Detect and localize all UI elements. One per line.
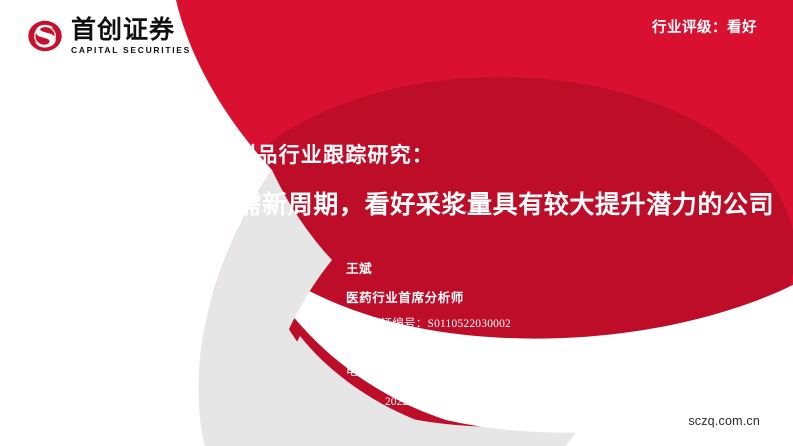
author-phone-line: 电话：010-81152644 — [346, 363, 511, 379]
author-email-line: Email：wangbin3@sczq.com.cn — [346, 339, 511, 355]
author-role: 医药行业首席分析师 — [346, 287, 511, 306]
logo-wordmark: 首创证券 CAPITAL SECURITIES — [71, 17, 191, 55]
report-title-subtitle: 供需新周期，看好采浆量具有较大提升潜力的公司 — [211, 185, 774, 221]
logo-english-name: CAPITAL SECURITIES — [71, 46, 191, 55]
author-email-address[interactable]: wangbin3@sczq.com.cn — [386, 342, 503, 354]
report-cover-slide: 首创证券 CAPITAL SECURITIES 行业评级：看好 血制品行业跟踪研… — [0, 0, 793, 446]
capital-securities-s-emblem-icon — [26, 17, 64, 55]
brand-logo[interactable]: 首创证券 CAPITAL SECURITIES — [26, 17, 191, 55]
phone-label: 电话： — [346, 366, 381, 378]
industry-rating-label: 行业评级：看好 — [652, 16, 757, 37]
sac-label: SAC执证编号： — [346, 318, 427, 330]
email-label: Email： — [346, 342, 386, 354]
logo-chinese-name: 首创证券 — [71, 17, 191, 43]
author-name: 王斌 — [346, 258, 511, 277]
author-info-block: 王斌 医药行业首席分析师 SAC执证编号：S0110522030002 Emai… — [346, 258, 511, 387]
report-title-main: 血制品行业跟踪研究： — [212, 139, 434, 169]
company-website[interactable]: sczq.com.cn — [688, 414, 760, 428]
report-date: 2022年12月6日 — [385, 393, 460, 409]
sac-number: S0110522030002 — [427, 318, 511, 330]
author-sac-line: SAC执证编号：S0110522030002 — [346, 315, 511, 331]
author-phone-number: 010-81152644 — [381, 366, 450, 378]
